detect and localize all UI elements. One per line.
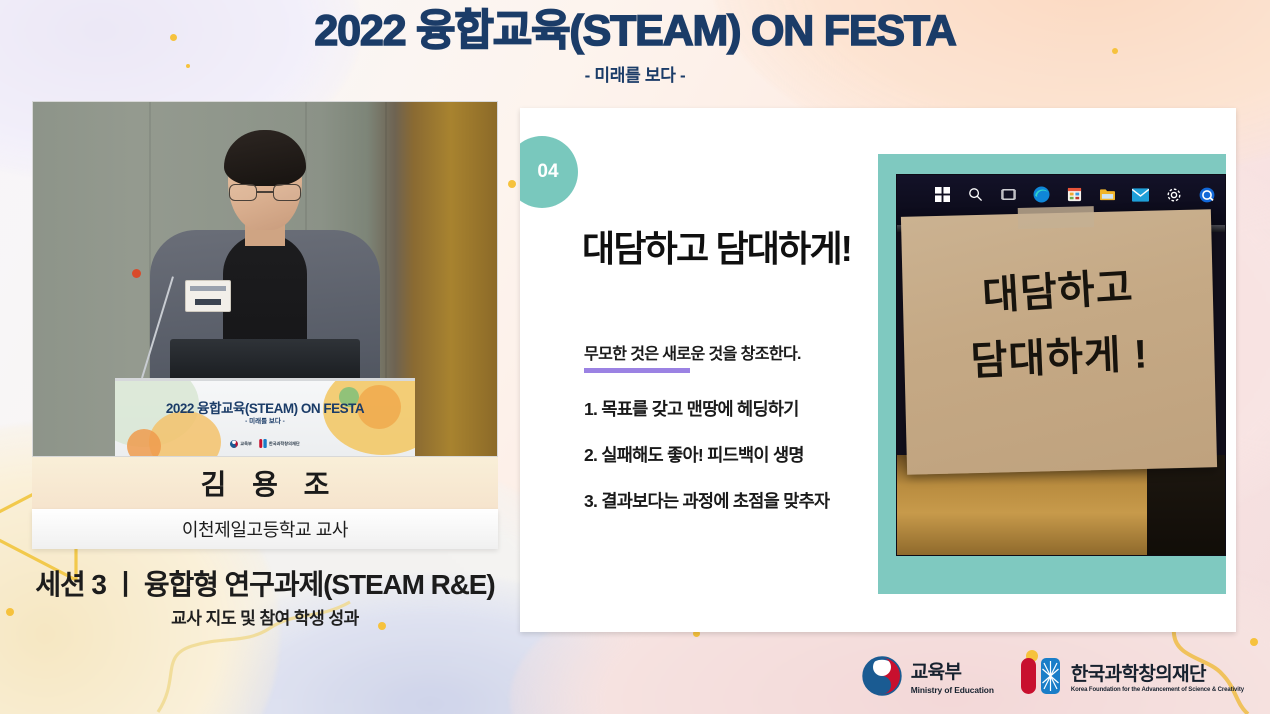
footer-logos: 교육부 Ministry of Education xyxy=(862,656,1244,696)
podium-banner: 2022 융합교육(STEAM) ON FESTA - 미래를 보다 - 교육부 xyxy=(115,378,415,456)
microphone-head xyxy=(132,269,141,278)
slide-lead-underline xyxy=(584,368,690,373)
handwriting-line-1: 대담하고 xyxy=(901,250,1214,326)
speaker-panel: 2022 융합교육(STEAM) ON FESTA - 미래를 보다 - 교육부 xyxy=(32,101,498,629)
kofac-mark-icon xyxy=(259,439,267,448)
logo-moe-ko: 교육부 xyxy=(911,657,994,684)
session-subtitle: 교사 지도 및 참여 학생 성과 xyxy=(32,604,498,629)
handwriting-line-2: 담대하게 ! xyxy=(903,319,1215,390)
podium-banner-title: 2022 융합교육(STEAM) ON FESTA xyxy=(115,397,415,417)
microsoft-store-icon xyxy=(1065,185,1084,204)
decorative-dot xyxy=(1250,638,1258,646)
presentation-stage: 2022 융합교육(STEAM) ON FESTA - 미래를 보다 - xyxy=(0,0,1270,714)
handwritten-sign: 대담하고 담대하게 ! xyxy=(901,209,1217,474)
file-explorer-icon xyxy=(1098,185,1117,204)
podium-banner-logos: 교육부 한국과학창의재단 xyxy=(115,439,415,448)
desk-shadow xyxy=(1147,455,1225,555)
speaker-name: 김 용 조 xyxy=(192,463,339,503)
mail-icon xyxy=(1131,185,1150,204)
speaker-role: 이천제일고등학교 교사 xyxy=(182,516,348,542)
slide-lead-text: 무모한 것은 새로운 것을 창조한다. xyxy=(584,340,801,364)
event-subtitle: - 미래를 보다 - xyxy=(585,61,686,86)
slide-bullet-list: 1. 목표를 갖고 맨땅에 헤딩하기 2. 실패해도 좋아! 피드백이 생명 3… xyxy=(584,396,829,534)
speaker-name-banner: 김 용 조 xyxy=(32,457,498,509)
podium-laptop xyxy=(170,339,360,381)
windows-start-icon xyxy=(933,185,952,204)
slide-number-badge: 04 xyxy=(520,136,578,208)
slide-photo: 대담하고 담대하게 ! xyxy=(896,174,1226,556)
speaker-glasses xyxy=(229,184,301,201)
tape-strip xyxy=(1018,206,1094,229)
decorative-dot xyxy=(508,180,516,188)
speaker-name-badge xyxy=(185,280,231,312)
event-title: 2022 융합교육(STEAM) ON FESTA xyxy=(314,10,955,53)
event-header: 2022 융합교육(STEAM) ON FESTA - 미래를 보다 - xyxy=(0,0,1270,96)
session-title: 세션 3 ㅣ 융합형 연구과제(STEAM R&E) xyxy=(32,569,498,600)
podium-logo-moe: 교육부 xyxy=(230,440,252,448)
logo-moe-en: Ministry of Education xyxy=(911,685,994,695)
search-icon xyxy=(966,185,985,204)
speaker-role-banner: 이천제일고등학교 교사 xyxy=(32,509,498,549)
taegeuk-icon xyxy=(862,656,902,696)
settings-gear-icon xyxy=(1164,185,1183,204)
podium-logo-kofac-label: 한국과학창의재단 xyxy=(269,441,300,447)
presentation-slide[interactable]: 04 대담하고 담대하게! 무모한 것은 새로운 것을 창조한다. 1. 목표를… xyxy=(520,108,1236,632)
cortana-icon xyxy=(1197,185,1216,204)
slide-number: 04 xyxy=(525,161,558,183)
list-item: 3. 결과보다는 과정에 초점을 맞추자 xyxy=(584,488,829,513)
decorative-dot xyxy=(6,608,14,616)
slide-title: 대담하고 담대하게! xyxy=(582,220,851,272)
logo-ministry-of-education: 교육부 Ministry of Education xyxy=(862,656,994,696)
podium-banner-subtitle: - 미래를 보다 - xyxy=(115,415,415,425)
list-item: 2. 실패해도 좋아! 피드백이 생명 xyxy=(584,442,829,467)
podium-logo-kofac: 한국과학창의재단 xyxy=(259,439,300,448)
logo-kofac: 한국과학창의재단 Korea Foundation for the Advanc… xyxy=(1020,656,1244,696)
list-item: 1. 목표를 갖고 맨땅에 헤딩하기 xyxy=(584,396,829,421)
logo-kofac-ko: 한국과학창의재단 xyxy=(1071,659,1244,686)
windows-taskbar xyxy=(933,185,1216,204)
speaker-video[interactable]: 2022 융합교육(STEAM) ON FESTA - 미래를 보다 - 교육부 xyxy=(32,101,498,457)
logo-kofac-en: Korea Foundation for the Advancement of … xyxy=(1071,687,1244,693)
task-view-icon xyxy=(999,185,1018,204)
kofac-mark-icon xyxy=(1020,656,1062,696)
session-info: 세션 3 ㅣ 융합형 연구과제(STEAM R&E) 교사 지도 및 참여 학생… xyxy=(32,569,498,629)
podium-logo-moe-label: 교육부 xyxy=(240,441,252,447)
taegeuk-icon xyxy=(230,440,238,448)
edge-browser-icon xyxy=(1032,185,1051,204)
